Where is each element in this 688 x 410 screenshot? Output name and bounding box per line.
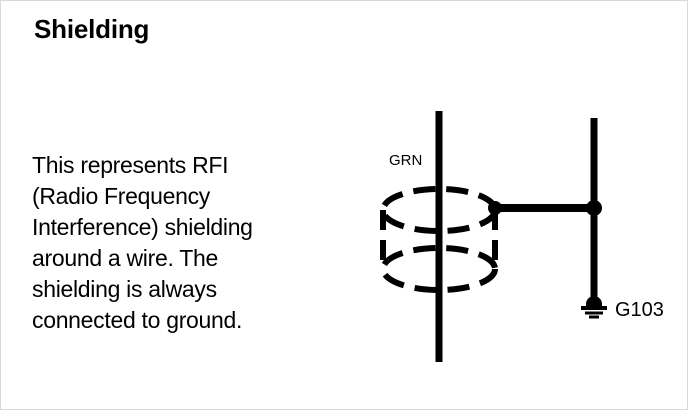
shielding-schematic: GRN (1, 1, 688, 410)
ground-junction-dot (586, 200, 602, 216)
schematic-svg: GRN (1, 1, 688, 410)
ground-label-g103: G103 (615, 299, 664, 321)
wire-label-grn: GRN (389, 152, 422, 169)
slide-canvas: Shielding This represents RFI (Radio Fre… (0, 0, 688, 410)
ground-dome (586, 296, 602, 306)
